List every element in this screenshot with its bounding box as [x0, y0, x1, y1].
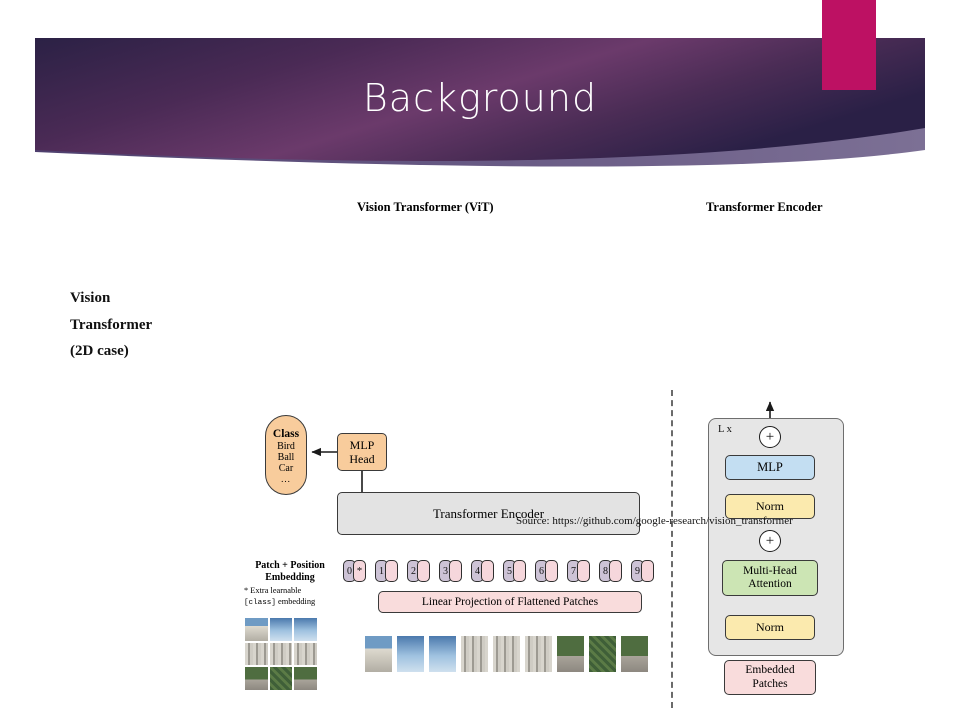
encoder-repeat-label: L x: [718, 424, 732, 435]
patch-position-line-2: Embedding: [244, 572, 336, 584]
vit-diagram-title: Vision Transformer (ViT): [357, 200, 494, 215]
image-patch-cell: [294, 618, 317, 641]
flattened-patch: [397, 636, 424, 672]
residual-add-bottom: +: [759, 530, 781, 552]
token-5: 5: [503, 560, 526, 582]
image-patch-cell: [270, 667, 293, 690]
flattened-patch: [429, 636, 456, 672]
token-embedding-5: [513, 560, 526, 582]
flattened-patch: [493, 636, 520, 672]
multi-head-attention-box: Multi-Head Attention: [722, 560, 818, 596]
panel-divider: [671, 390, 673, 708]
flattened-patch: [525, 636, 552, 672]
class-token-marker: *: [353, 560, 366, 582]
mlp-head-box: MLP Head: [337, 433, 387, 471]
flattened-patch: [461, 636, 488, 672]
mha-line-2: Attention: [748, 578, 791, 591]
token-0: 0*: [343, 560, 366, 582]
token-embedding-8: [609, 560, 622, 582]
encoder-mlp-box: MLP: [725, 455, 815, 480]
token-3: 3: [439, 560, 462, 582]
linear-projection-box: Linear Projection of Flattened Patches: [378, 591, 642, 613]
class-pill-item-ball: Ball: [278, 452, 295, 463]
mlp-head-line-1: MLP: [350, 438, 375, 452]
token-8: 8: [599, 560, 622, 582]
token-4: 4: [471, 560, 494, 582]
token-embedding-3: [449, 560, 462, 582]
extra-note-prefix: * Extra learnable: [244, 586, 301, 595]
class-pill-header: Class: [273, 428, 299, 441]
token-embedding-4: [481, 560, 494, 582]
mlp-head-line-2: Head: [349, 452, 374, 466]
transformer-encoder-box: Transformer Encoder: [337, 492, 640, 535]
vit-architecture-figure: Vision Transformer (ViT) Transformer Enc…: [0, 190, 960, 530]
extra-note-class-token: [class]: [244, 599, 276, 607]
mha-line-1: Multi-Head: [743, 565, 797, 578]
token-embedding-2: [417, 560, 430, 582]
token-embedding-6: [545, 560, 558, 582]
transformer-encoder-diagram-title: Transformer Encoder: [706, 200, 823, 215]
patch-position-embedding-label: Patch + Position Embedding: [244, 560, 336, 583]
token-1: 1: [375, 560, 398, 582]
token-9: 9: [631, 560, 654, 582]
embedded-patches-box: Embedded Patches: [724, 660, 816, 695]
class-pill-item-car: Car: [279, 463, 293, 474]
magenta-accent-bar: [822, 0, 876, 90]
token-7: 7: [567, 560, 590, 582]
image-patch-cell: [270, 643, 293, 666]
image-patch-cell: [245, 618, 268, 641]
source-citation: Source: https://github.com/google-resear…: [516, 515, 793, 527]
slide-header-banner: Background: [0, 0, 960, 180]
residual-add-top: +: [759, 426, 781, 448]
patch-position-line-1: Patch + Position: [244, 560, 336, 572]
image-patch-cell: [294, 667, 317, 690]
class-pill-ellipsis: ...: [281, 474, 291, 484]
source-image-patch-grid: [245, 618, 317, 690]
encoder-norm-bottom-box: Norm: [725, 615, 815, 640]
extra-note-suffix: embedding: [276, 597, 315, 606]
token-embedding-1: [385, 560, 398, 582]
flattened-patch: [365, 636, 392, 672]
embedded-patches-line-1: Embedded: [745, 664, 794, 677]
image-patch-cell: [270, 618, 293, 641]
flattened-patch: [589, 636, 616, 672]
token-embedding-9: [641, 560, 654, 582]
image-patch-cell: [245, 667, 268, 690]
extra-learnable-note: * Extra learnable [class] embedding: [244, 586, 344, 608]
flattened-patch: [557, 636, 584, 672]
embedded-patches-line-2: Patches: [752, 678, 787, 691]
token-2: 2: [407, 560, 430, 582]
page-title: Background: [0, 78, 960, 120]
token-embedding-7: [577, 560, 590, 582]
token-6: 6: [535, 560, 558, 582]
image-patch-cell: [294, 643, 317, 666]
class-output-pill: Class Bird Ball Car ...: [265, 415, 307, 495]
flattened-patch: [621, 636, 648, 672]
class-pill-item-bird: Bird: [277, 441, 295, 452]
image-patch-cell: [245, 643, 268, 666]
